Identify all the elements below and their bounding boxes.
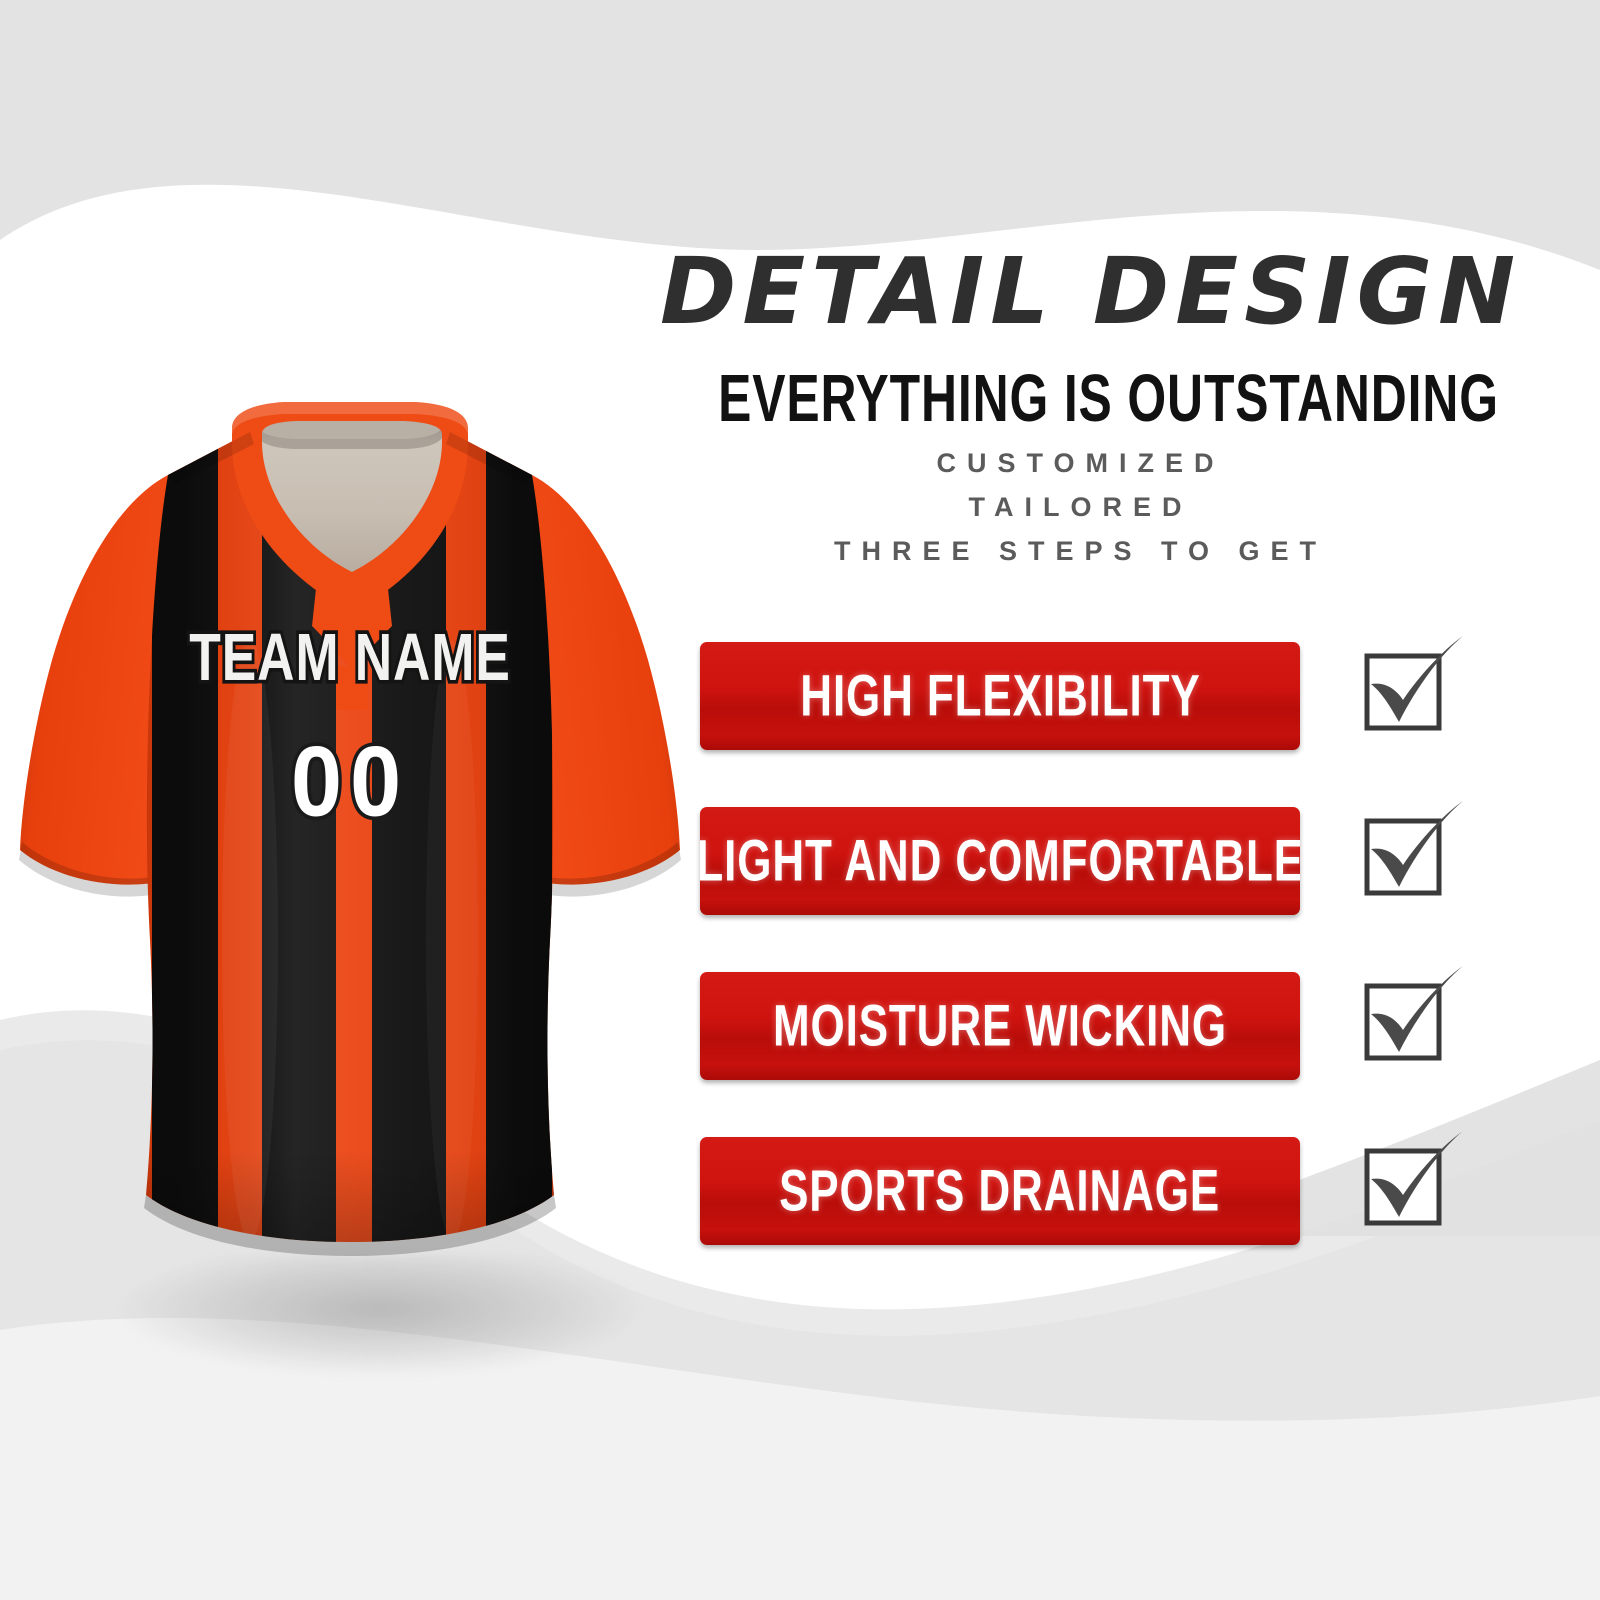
feature-banner-sports-drainage[interactable]: SPORTS DRAINAGE [700, 1137, 1300, 1245]
tagline-customized: CUSTOMIZED [660, 448, 1490, 479]
content-panel: DETAIL DESIGN EVERYTHING IS OUTSTANDING … [660, 0, 1600, 1600]
feature-label: LIGHT AND COMFORTABLE [700, 827, 1300, 894]
page-subtitle: EVERYTHING IS OUTSTANDING [718, 360, 1432, 437]
feature-banner-high-flexibility[interactable]: HIGH FLEXIBILITY [700, 642, 1300, 750]
tagline-tailored: TAILORED [660, 492, 1490, 523]
checkmark-icon [1345, 1125, 1465, 1245]
jersey-product-image: TEAM NAME 00 [0, 380, 700, 1310]
feature-label: HIGH FLEXIBILITY [800, 662, 1200, 729]
page-title: DETAIL DESIGN [660, 238, 1490, 345]
feature-label: MOISTURE WICKING [773, 992, 1227, 1059]
checkmark-icon [1345, 795, 1465, 915]
feature-banner-moisture-wicking[interactable]: MOISTURE WICKING [700, 972, 1300, 1080]
feature-row: HIGH FLEXIBILITY [700, 642, 1460, 750]
checkmark-icon [1345, 630, 1465, 750]
jersey-floor-shadow [120, 1255, 640, 1375]
feature-banner-light-and-comfortable[interactable]: LIGHT AND COMFORTABLE [700, 807, 1300, 915]
feature-row: LIGHT AND COMFORTABLE [700, 807, 1460, 915]
checkmark-icon [1345, 960, 1465, 1080]
feature-row: MOISTURE WICKING [700, 972, 1460, 1080]
feature-label: SPORTS DRAINAGE [779, 1157, 1220, 1224]
tagline-three-steps: THREE STEPS TO GET [660, 536, 1490, 567]
product-detail-banner: TEAM NAME 00 DETAIL DESIGN EVERYTHING IS… [0, 0, 1600, 1600]
feature-row: SPORTS DRAINAGE [700, 1137, 1460, 1245]
